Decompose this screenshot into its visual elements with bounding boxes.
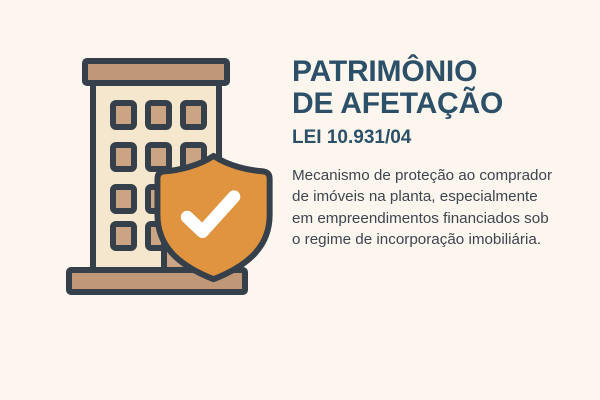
- infographic-card: PATRIMÔNIO DE AFETAÇÃO LEI 10.931/04 Mec…: [0, 0, 600, 400]
- headline-line-1: PATRIMÔNIO: [292, 56, 574, 88]
- headline-line-2: DE AFETAÇÃO: [292, 88, 574, 120]
- window: [113, 187, 134, 211]
- page-title: PATRIMÔNIO DE AFETAÇÃO: [292, 56, 574, 121]
- illustration-svg: [52, 48, 292, 298]
- description-paragraph: Mecanismo de proteção ao comprador de im…: [292, 165, 560, 251]
- window: [113, 145, 134, 169]
- law-reference: LEI 10.931/04: [292, 128, 574, 149]
- window: [148, 145, 169, 169]
- window: [148, 103, 169, 127]
- building-with-shield-illustration: [52, 48, 292, 298]
- window: [183, 103, 204, 127]
- text-block: PATRIMÔNIO DE AFETAÇÃO LEI 10.931/04 Mec…: [292, 56, 574, 251]
- window: [113, 103, 134, 127]
- window: [113, 224, 134, 248]
- building-roof-slab: [85, 61, 227, 83]
